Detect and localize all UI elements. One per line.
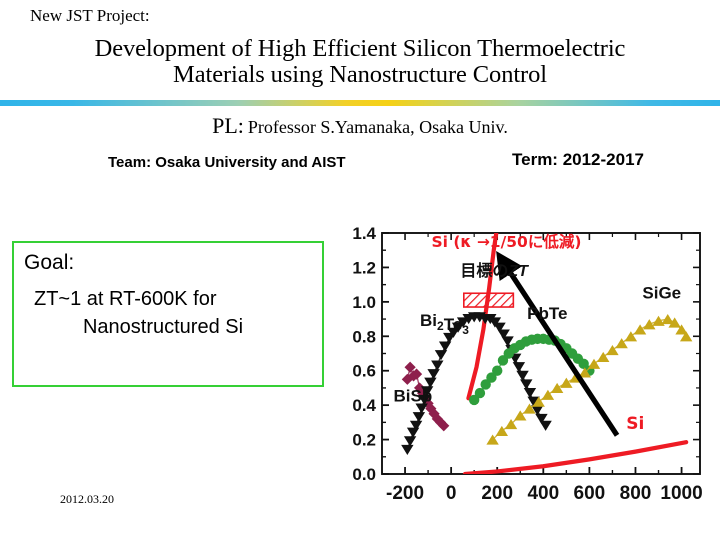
y-tick-label: 1.4 <box>352 224 376 243</box>
curve-label-Si-bulk: Si <box>626 414 644 434</box>
plot-frame <box>382 233 700 474</box>
x-tick-label: 1000 <box>660 483 702 504</box>
x-tick-label: 400 <box>527 483 559 504</box>
series-label-PbTe: PbTe <box>527 304 567 323</box>
curve-label-Si-reduced-kappa: Si (κ →1/50に低減) <box>431 232 581 251</box>
target-zt-label: 目標のZT <box>460 261 529 280</box>
series-marker-PbTe <box>492 366 502 376</box>
y-tick-label: 1.2 <box>352 258 376 277</box>
goal-text-line-2: Nanostructured Si <box>22 313 318 341</box>
goal-box: Goal: ZT~1 at RT-600K for Nanostructured… <box>12 241 324 387</box>
team-line: Team: Osaka University and AIST <box>108 154 346 171</box>
y-tick-label: 0.4 <box>352 396 376 415</box>
goal-text-line-1: ZT~1 at RT-600K for <box>22 285 318 313</box>
y-tick-label: 0.0 <box>352 465 376 484</box>
page-title-line-2: Materials using Nanostructure Control <box>18 62 702 88</box>
principal-investigator-line: PL: Professor S.Yamanaka, Osaka Univ. <box>18 113 702 139</box>
y-tick-label: 1.0 <box>352 293 376 312</box>
term-line: Term: 2012-2017 <box>512 150 644 170</box>
page-title: Development of High Efficient Silicon Th… <box>18 36 702 88</box>
chart-svg: 0.00.20.40.60.81.01.21.4-200020040060080… <box>340 212 716 520</box>
pl-label: PL: <box>212 113 244 138</box>
header-divider-rule <box>0 100 720 106</box>
x-tick-label: 600 <box>574 483 606 504</box>
series-marker-PbTe <box>475 388 485 398</box>
label-part: 3 <box>462 323 469 337</box>
y-tick-label: 0.2 <box>352 431 376 450</box>
goal-text: ZT~1 at RT-600K for Nanostructured Si <box>22 285 318 341</box>
page-title-line-1: Development of High Efficient Silicon Th… <box>18 36 702 62</box>
goal-title: Goal: <box>24 251 74 275</box>
slide-canvas: New JST Project: Development of High Eff… <box>0 0 720 540</box>
date-stamp: 2012.03.20 <box>60 492 114 507</box>
x-tick-label: 0 <box>446 483 457 504</box>
x-tick-label: 200 <box>481 483 513 504</box>
target-zt-label-zt: ZT <box>507 263 529 280</box>
series-label-SiGe: SiGe <box>642 283 681 302</box>
y-tick-label: 0.6 <box>352 362 376 381</box>
series-label-BiSb: BiSb <box>394 387 433 406</box>
pl-name: Professor S.Yamanaka, Osaka Univ. <box>248 117 508 137</box>
label-part: Bi <box>420 311 437 330</box>
label-part: Te <box>444 315 463 334</box>
target-zt-label-jp: 目標の <box>460 261 508 280</box>
x-tick-label: 800 <box>620 483 652 504</box>
project-eyebrow: New JST Project: <box>30 6 150 26</box>
x-tick-label: -200 <box>386 483 424 504</box>
y-tick-label: 0.8 <box>352 327 376 346</box>
zt-vs-temperature-chart: 0.00.20.40.60.81.01.21.4-200020040060080… <box>340 212 716 520</box>
